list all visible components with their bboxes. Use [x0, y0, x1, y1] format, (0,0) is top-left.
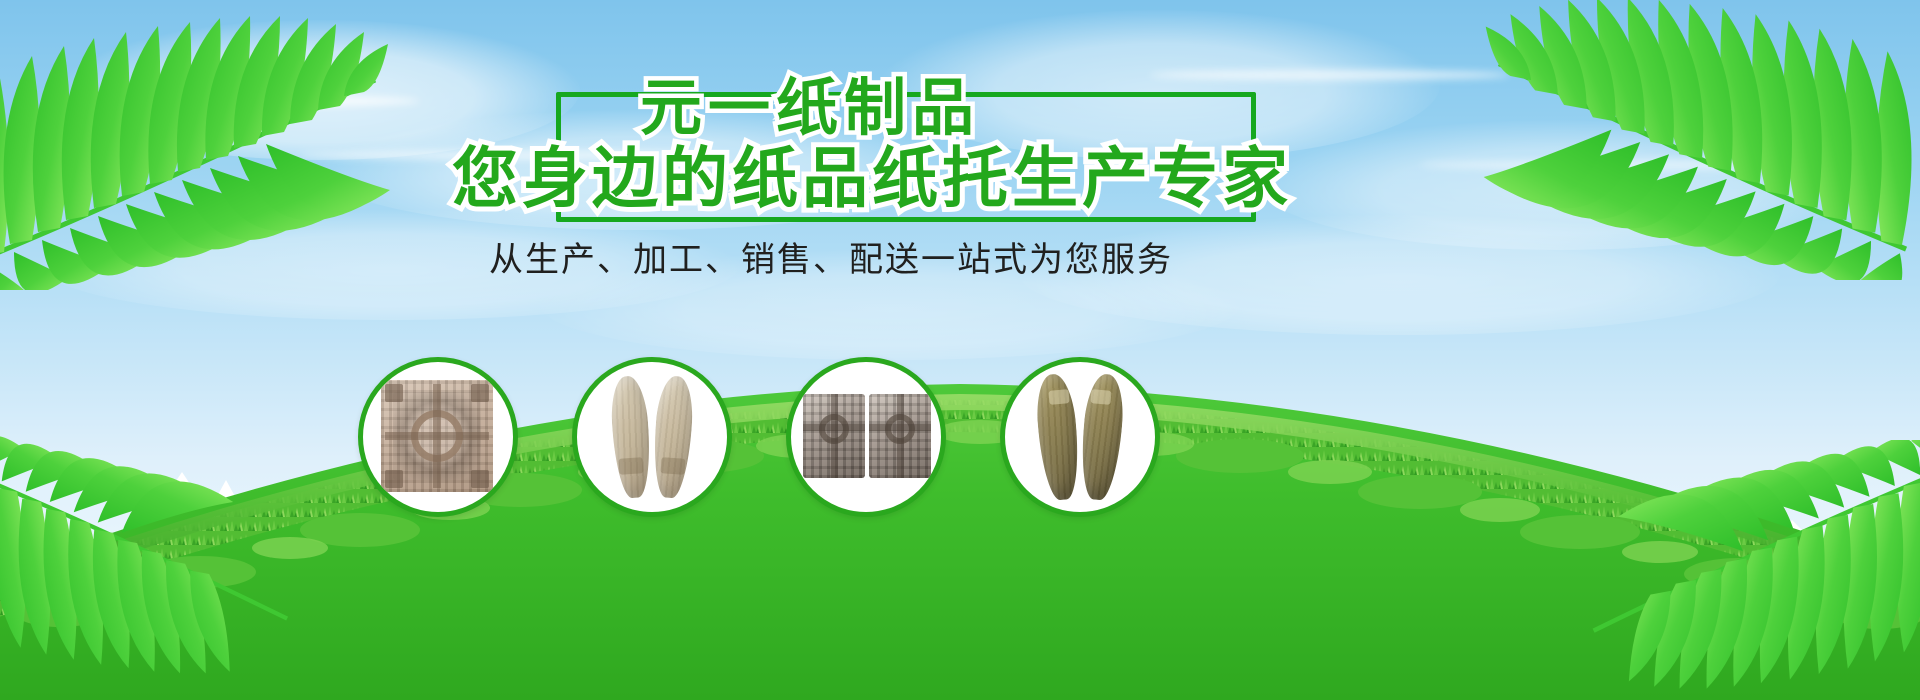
product-circle-paper-pulp-insole-pair-dark[interactable] [1000, 357, 1160, 517]
product-showcase [0, 0, 1920, 700]
product-circle-paper-pulp-insole-pair-light[interactable] [572, 357, 732, 517]
promo-banner: 元一纸制品 您身边的纸品纸托生产专家 从生产、加工、销售、配送一站式为您服务 [0, 0, 1920, 700]
product-circle-paper-pulp-tray-pair[interactable] [786, 357, 946, 517]
product-circle-paper-pulp-tray-square[interactable] [358, 357, 518, 517]
